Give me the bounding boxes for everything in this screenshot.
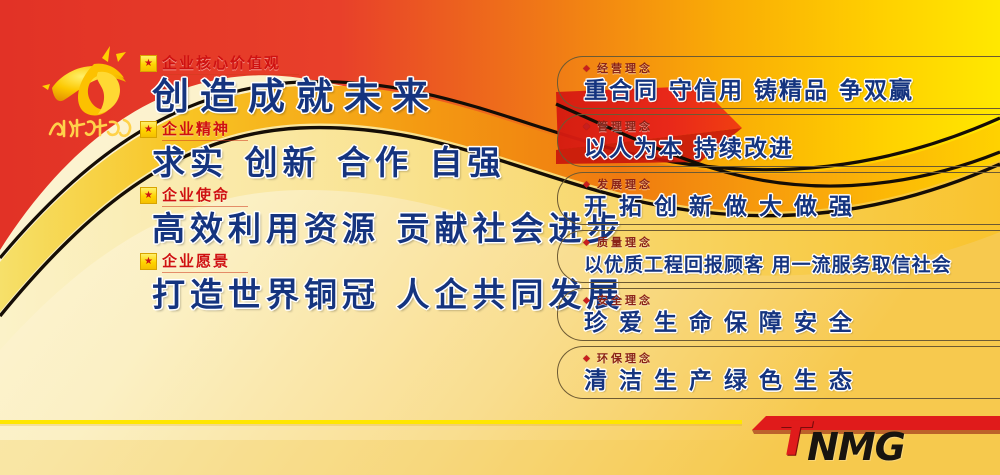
panel-management-philosophy: 管理理念 以人为本 持续改进 (557, 114, 1000, 167)
tnmg-logo: T NMG (778, 416, 905, 460)
block-vision: ★ 企业愿景 打造世界铜冠 人企共同发展 (140, 252, 560, 318)
right-column: 经营理念 重合同 守信用 铸精品 争双赢 管理理念 以人为本 持续改进 发展理念… (557, 56, 1000, 404)
panel-safety-philosophy: 安全理念 珍 爱 生 命 保 障 安 全 (557, 288, 1000, 341)
panel-header: 环保理念 (584, 351, 1000, 365)
panel-header: 安全理念 (584, 293, 1000, 307)
star-badge-icon: ★ (140, 55, 157, 72)
diamond-bullet-icon (583, 354, 590, 361)
block-label: 企业愿景 (162, 250, 248, 273)
block-slogan: 创造成就未来 (152, 74, 560, 120)
panel-header: 质量理念 (584, 235, 1000, 249)
block-label: 企业核心价值观 (162, 52, 299, 75)
diamond-bullet-icon (583, 64, 590, 71)
panel-development-philosophy: 发展理念 开 拓 创 新 做 大 做 强 (557, 172, 1000, 225)
diamond-bullet-icon (583, 180, 590, 187)
diamond-bullet-icon (583, 296, 590, 303)
panel-text: 珍 爱 生 命 保 障 安 全 (584, 308, 1000, 338)
panel-header: 发展理念 (584, 177, 1000, 191)
block-spirit: ★ 企业精神 求实 创新 合作 自强 (140, 120, 560, 186)
block-slogan: 高效利用资源 贡献社会进步 (152, 206, 560, 252)
panel-text: 清 洁 生 产 绿 色 生 态 (584, 366, 1000, 396)
block-header: ★ 企业精神 (140, 120, 560, 139)
tnmg-logo-t: T (778, 416, 810, 463)
panel-environment-philosophy: 环保理念 清 洁 生 产 绿 色 生 态 (557, 346, 1000, 399)
panel-label: 经营理念 (597, 60, 653, 76)
block-label: 企业精神 (162, 118, 248, 141)
block-label: 企业使命 (162, 184, 248, 207)
panel-text: 开 拓 创 新 做 大 做 强 (584, 192, 1000, 222)
panel-text: 重合同 守信用 铸精品 争双赢 (584, 76, 1000, 106)
company-calligraphy-icon (44, 112, 140, 142)
diamond-bullet-icon (583, 122, 590, 129)
panel-business-philosophy: 经营理念 重合同 守信用 铸精品 争双赢 (557, 56, 1000, 109)
panel-header: 经营理念 (584, 61, 1000, 75)
block-slogan: 打造世界铜冠 人企共同发展 (152, 272, 560, 318)
block-header: ★ 企业核心价值观 (140, 54, 560, 73)
panel-quality-philosophy: 质量理念 以优质工程回报顾客 用一流服务取信社会 (557, 230, 1000, 283)
panel-text: 以优质工程回报顾客 用一流服务取信社会 (584, 250, 1000, 280)
star-badge-icon: ★ (140, 187, 157, 204)
star-badge-icon: ★ (140, 121, 157, 138)
panel-label: 安全理念 (597, 292, 653, 308)
panel-header: 管理理念 (584, 119, 1000, 133)
diamond-bullet-icon (583, 238, 590, 245)
block-mission: ★ 企业使命 高效利用资源 贡献社会进步 (140, 186, 560, 252)
tnmg-logo-nmg: NMG (807, 416, 905, 471)
panel-label: 环保理念 (597, 350, 653, 366)
culture-board: ★ 企业核心价值观 创造成就未来 ★ 企业精神 求实 创新 合作 自强 ★ 企业… (0, 0, 1000, 475)
panel-label: 管理理念 (597, 118, 653, 134)
block-slogan: 求实 创新 合作 自强 (152, 140, 560, 186)
block-header: ★ 企业愿景 (140, 252, 560, 271)
star-badge-icon: ★ (140, 253, 157, 270)
panel-label: 质量理念 (597, 234, 653, 250)
left-column: ★ 企业核心价值观 创造成就未来 ★ 企业精神 求实 创新 合作 自强 ★ 企业… (140, 54, 560, 318)
block-header: ★ 企业使命 (140, 186, 560, 205)
panel-label: 发展理念 (597, 176, 653, 192)
block-core-values: ★ 企业核心价值观 创造成就未来 (140, 54, 560, 120)
panel-text: 以人为本 持续改进 (584, 134, 1000, 164)
